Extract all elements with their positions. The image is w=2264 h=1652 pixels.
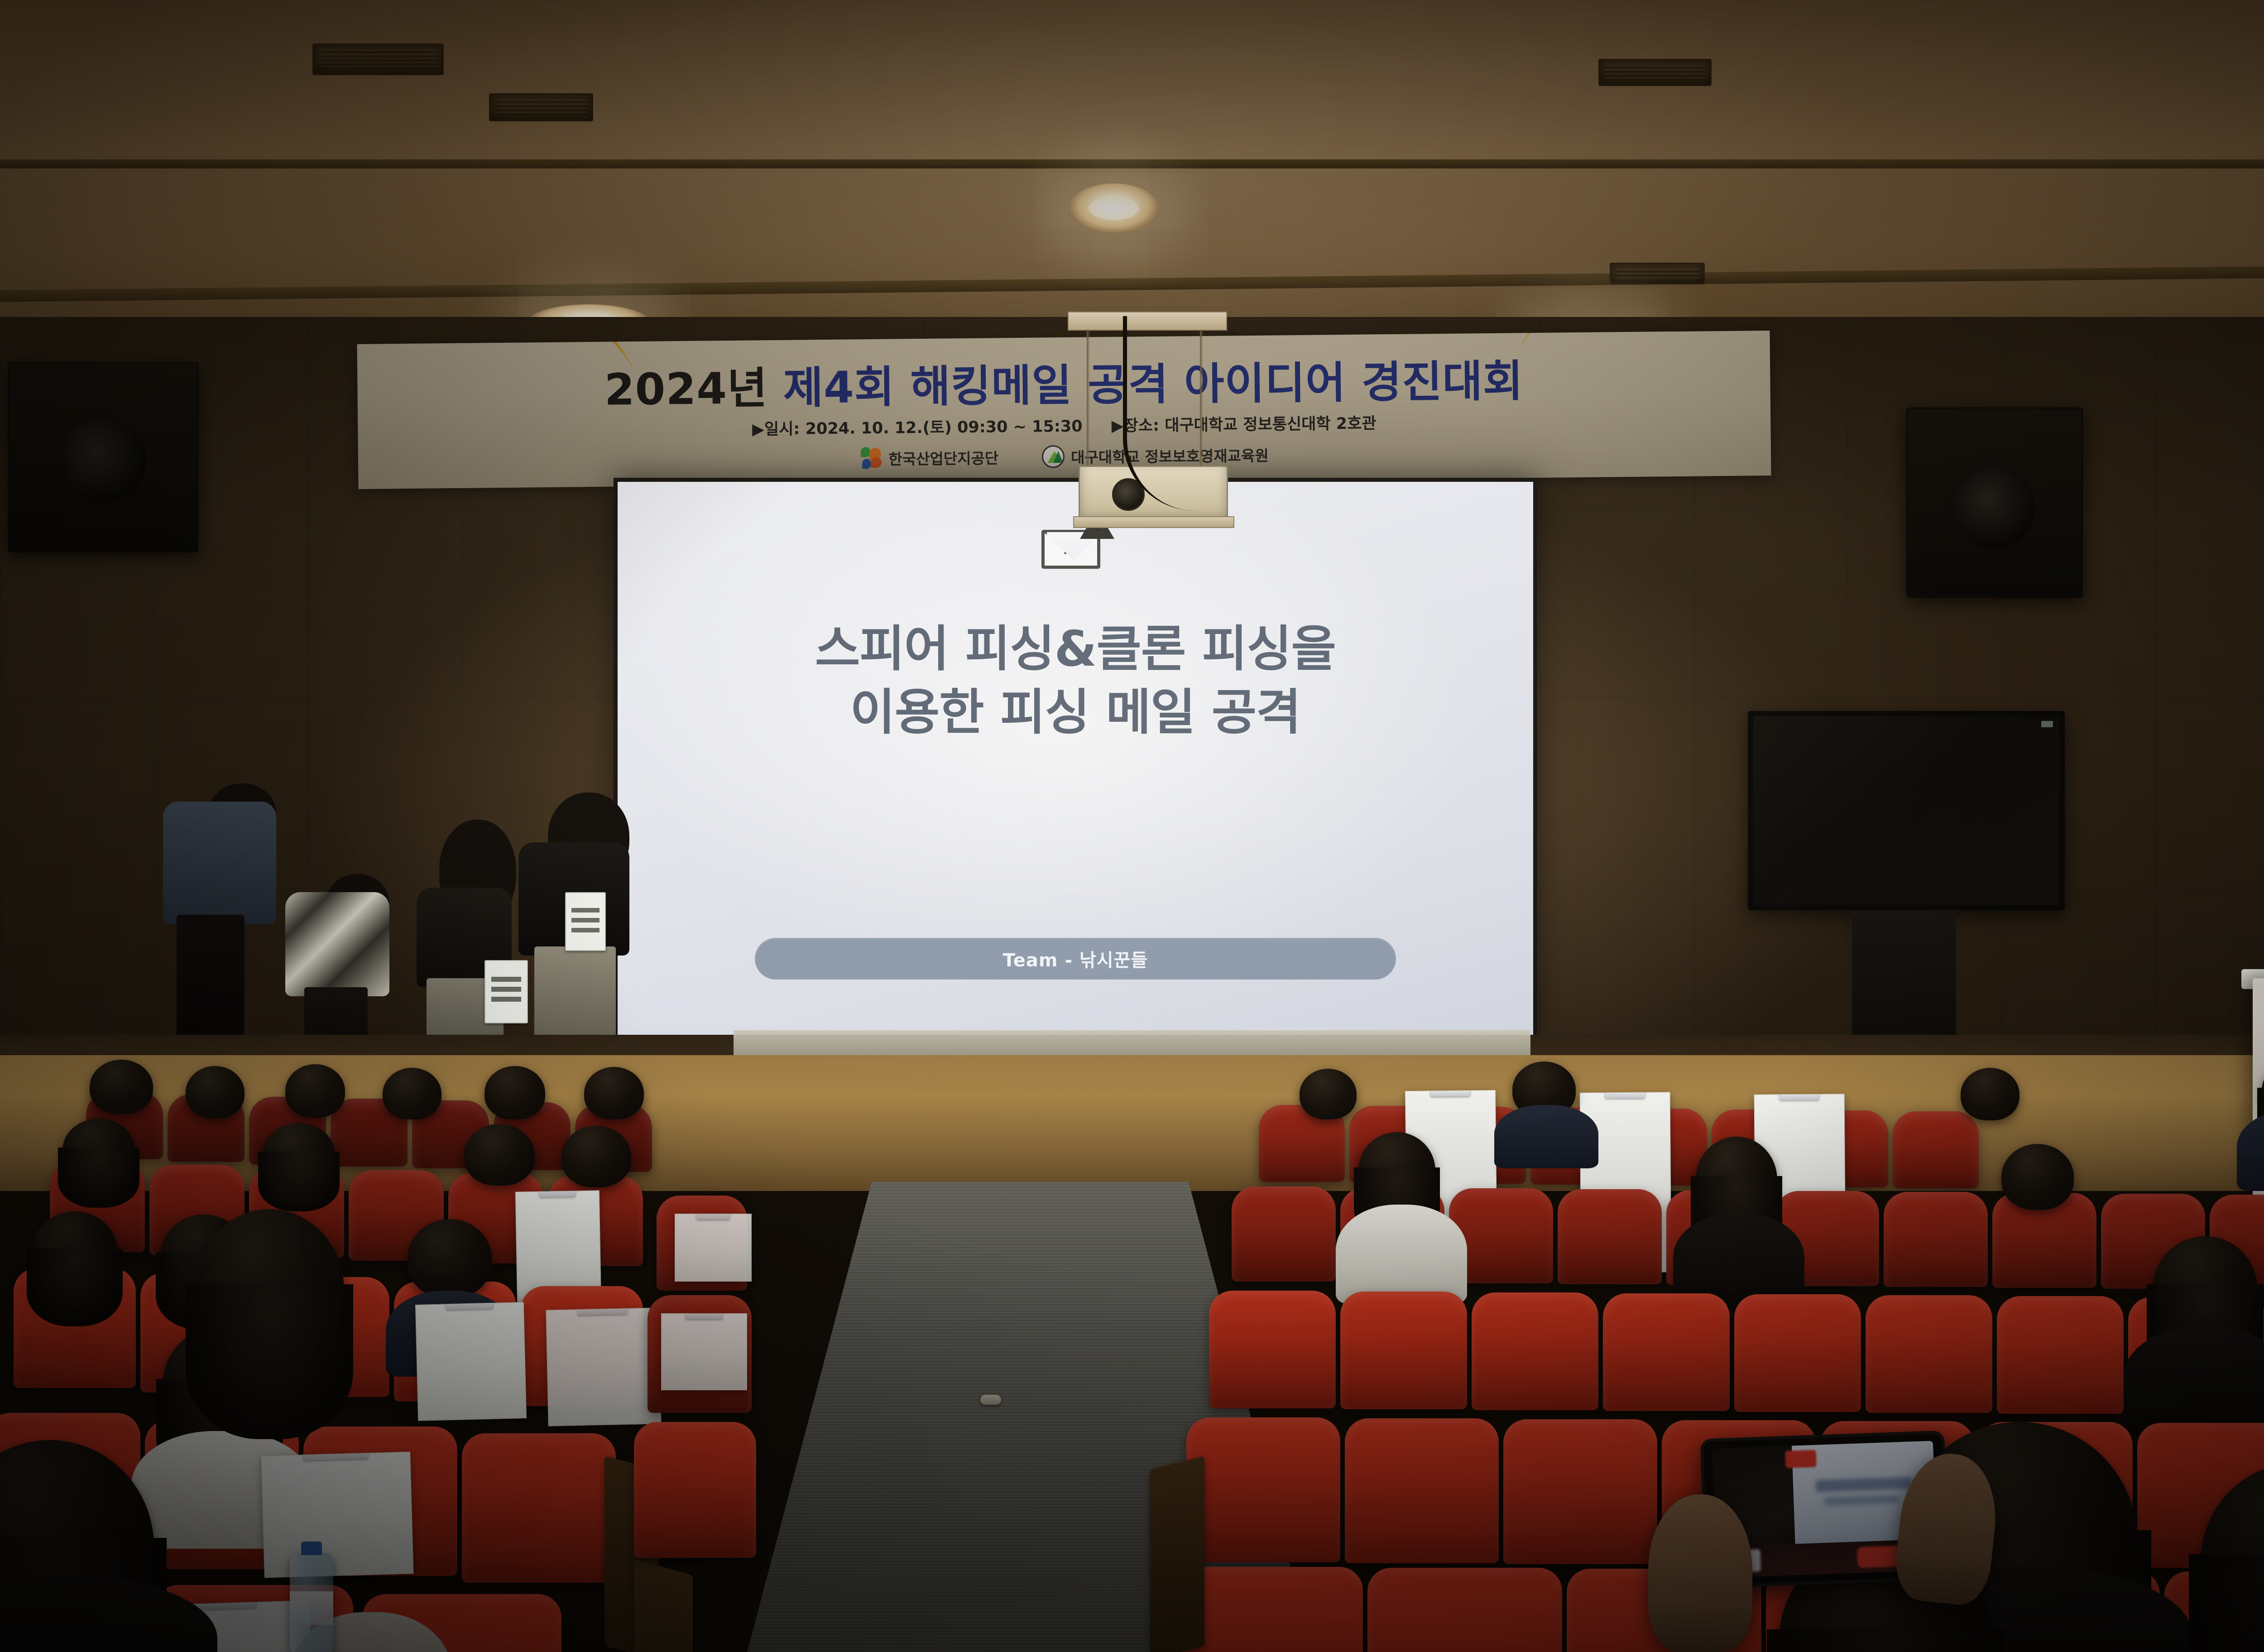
seat[interactable] (1866, 1295, 1992, 1413)
ceiling-vent-far-right (1598, 59, 1712, 86)
phone-record-indicator-icon (1785, 1450, 1817, 1468)
audience-head (285, 1064, 345, 1118)
seat[interactable] (1472, 1292, 1598, 1410)
seating-left-aisle-edge (643, 1159, 806, 1652)
audience-head (2153, 1236, 2257, 1340)
monitor-power-led-icon (2041, 721, 2053, 727)
presenter-1 (163, 770, 294, 1060)
ceiling-vent-center (489, 93, 593, 121)
wall-speaker-left (8, 362, 198, 552)
audience-head (186, 1066, 245, 1119)
auditorium-photo: 2024년 제4회 해킹메일 공격 아이디어 경진대회 ▶일시: 2024. 1… (0, 0, 2264, 1652)
audience-head (383, 1068, 441, 1119)
audience-head (62, 1119, 135, 1182)
presenter-4 (498, 788, 648, 1069)
monitor-stand (1852, 910, 1956, 1046)
audience-head (32, 1211, 118, 1293)
seat[interactable] (1503, 1419, 1657, 1564)
sponsor-kicox-label: 한국산업단지공단 (888, 446, 998, 469)
audience-shoulders (2124, 1327, 2264, 1436)
audience-head (1696, 1137, 1777, 1223)
seat-placard (661, 1313, 747, 1390)
kicox-logo-icon (860, 447, 882, 470)
audience-head (561, 1126, 631, 1187)
seat[interactable] (1232, 1186, 1336, 1282)
banner-title-year: 2024년 (604, 363, 783, 415)
audience-head (1961, 1068, 2019, 1120)
seat[interactable] (1997, 1296, 2124, 1414)
slide-title: 스피어 피싱&클론 피싱을 이용한 피싱 메일 공격 (672, 618, 1478, 745)
seat-armrest (1150, 1456, 1204, 1652)
slide-title-line1: 스피어 피싱&클론 피싱을 (815, 621, 1336, 677)
seat[interactable] (1558, 1189, 1662, 1284)
aisle-floor-object (980, 1395, 1001, 1405)
seat[interactable] (634, 1422, 756, 1558)
ceiling-beam-upper (0, 159, 2264, 168)
audience-head (1358, 1132, 1435, 1209)
audience-shoulders (1336, 1205, 1467, 1304)
seat[interactable] (1734, 1294, 1861, 1412)
presenter-2 (276, 851, 412, 1064)
phone-preview-subtitle-blur (1824, 1495, 1898, 1506)
seat[interactable] (1603, 1293, 1730, 1411)
audience-head (484, 1066, 545, 1119)
bottle-cap (301, 1542, 322, 1555)
presenter-1-torso (163, 802, 276, 924)
bottle-label (290, 1591, 333, 1625)
audience-head (263, 1123, 335, 1186)
ceiling-vent-left (312, 43, 444, 75)
ceiling-vent-right (1610, 263, 1705, 284)
seat[interactable] (1367, 1568, 1562, 1652)
seat[interactable] (462, 1433, 616, 1583)
seat-placard: 초 (415, 1302, 527, 1421)
audience-head (408, 1219, 492, 1298)
phone-preview-title-blur (1815, 1477, 1912, 1492)
audience-head (1300, 1069, 1357, 1119)
wall-speaker-right (1906, 408, 2083, 598)
hand-left-holding-phone (1648, 1494, 1752, 1652)
seat[interactable] (1186, 1417, 1340, 1562)
audience-shoulders (2237, 1109, 2264, 1191)
wall-monitor (1748, 711, 2065, 910)
audience-head (584, 1067, 644, 1119)
projector-overlay-base (1073, 516, 1234, 528)
seat[interactable] (1893, 1111, 1979, 1188)
monitor-screen (1753, 716, 2059, 905)
presenter-2-torso (285, 892, 389, 996)
foreground-head-center-left (195, 1209, 344, 1372)
sponsor-kicox: 한국산업단지공단 (860, 446, 998, 470)
seat[interactable] (1340, 1292, 1467, 1409)
water-bottle[interactable] (290, 1553, 333, 1652)
audience-head (2262, 1059, 2264, 1122)
slide-title-line2: 이용한 피싱 메일 공격 (672, 681, 1478, 744)
ceiling-downlight-center (1069, 183, 1159, 233)
banner-date: ▶일시: 2024. 10. 12.(토) 09:30 ~ 15:30 (752, 418, 1083, 439)
seat[interactable] (1345, 1418, 1499, 1563)
slide-team-bar: Team - 낚시꾼들 (755, 938, 1396, 980)
slide-team-label: Team - 낚시꾼들 (1003, 946, 1148, 972)
presenter-4-name-badge (565, 892, 606, 951)
seat-placard (675, 1214, 752, 1282)
audience-head (2001, 1144, 2074, 1210)
seat-placard: 고등기초 (261, 1451, 413, 1578)
projector-foreground-overlay (1055, 312, 1250, 610)
audience-head (90, 1060, 153, 1114)
audience-shoulders (1494, 1105, 1598, 1168)
seat[interactable] (1884, 1192, 1988, 1287)
audience-head (464, 1124, 535, 1186)
seat-placard-label: 초 (460, 1419, 485, 1421)
seat[interactable] (1209, 1291, 1336, 1408)
